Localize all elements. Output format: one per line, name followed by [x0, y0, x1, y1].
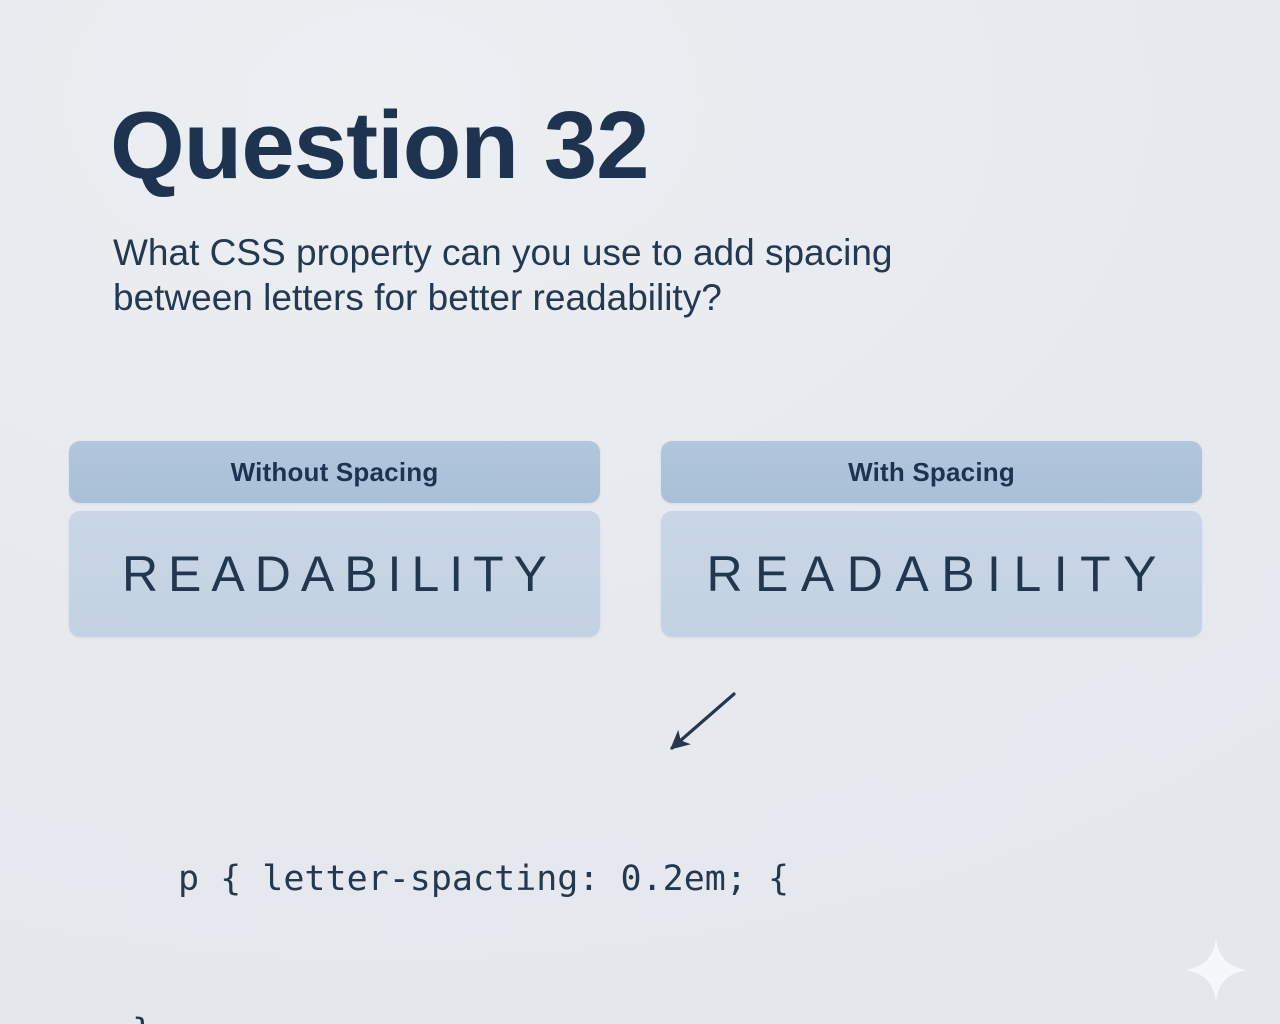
- page-title: Question 32: [110, 98, 648, 194]
- question-line-2: between letters for better readability?: [113, 275, 1113, 320]
- question-text: What CSS property can you use to add spa…: [113, 230, 1113, 320]
- card-header-label: Without Spacing: [231, 457, 439, 488]
- code-line-2: }: [132, 1007, 789, 1024]
- slide-canvas: Question 32 What CSS property can you us…: [0, 0, 1280, 1024]
- code-line-1: p { letter-spacting: 0.2em; {: [132, 854, 789, 905]
- question-line-1: What CSS property can you use to add spa…: [113, 230, 1113, 275]
- card-body-with-spacing: READABILITY: [661, 511, 1202, 637]
- card-header-without-spacing: Without Spacing: [69, 441, 600, 503]
- code-snippet: p { letter-spacting: 0.2em; { }: [132, 752, 789, 1024]
- sparkle-icon: [1182, 936, 1250, 1004]
- card-header-label: With Spacing: [848, 457, 1015, 488]
- sample-word-without-spacing: READABILITY: [112, 545, 557, 603]
- comparison-card-with-spacing: With Spacing READABILITY: [661, 441, 1202, 637]
- card-header-with-spacing: With Spacing: [661, 441, 1202, 503]
- card-body-without-spacing: READABILITY: [69, 511, 600, 637]
- comparison-card-without-spacing: Without Spacing READABILITY: [69, 441, 600, 637]
- sample-word-with-spacing: READABILITY: [694, 545, 1169, 603]
